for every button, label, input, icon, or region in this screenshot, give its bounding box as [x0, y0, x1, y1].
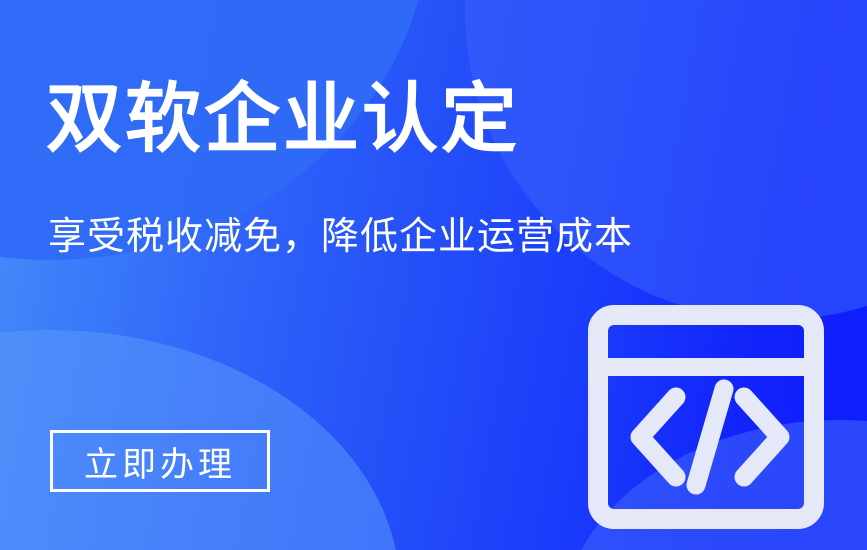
promo-banner: 双软企业认定 享受税收减免，降低企业运营成本 立即办理: [0, 0, 867, 550]
code-window-icon: [588, 305, 824, 529]
banner-title: 双软企业认定: [46, 82, 520, 158]
banner-subtitle: 享受税收减免，降低企业运营成本: [48, 216, 633, 260]
banner-content: 双软企业认定 享受税收减免，降低企业运营成本 立即办理: [0, 0, 867, 550]
apply-now-button[interactable]: 立即办理: [50, 430, 270, 492]
